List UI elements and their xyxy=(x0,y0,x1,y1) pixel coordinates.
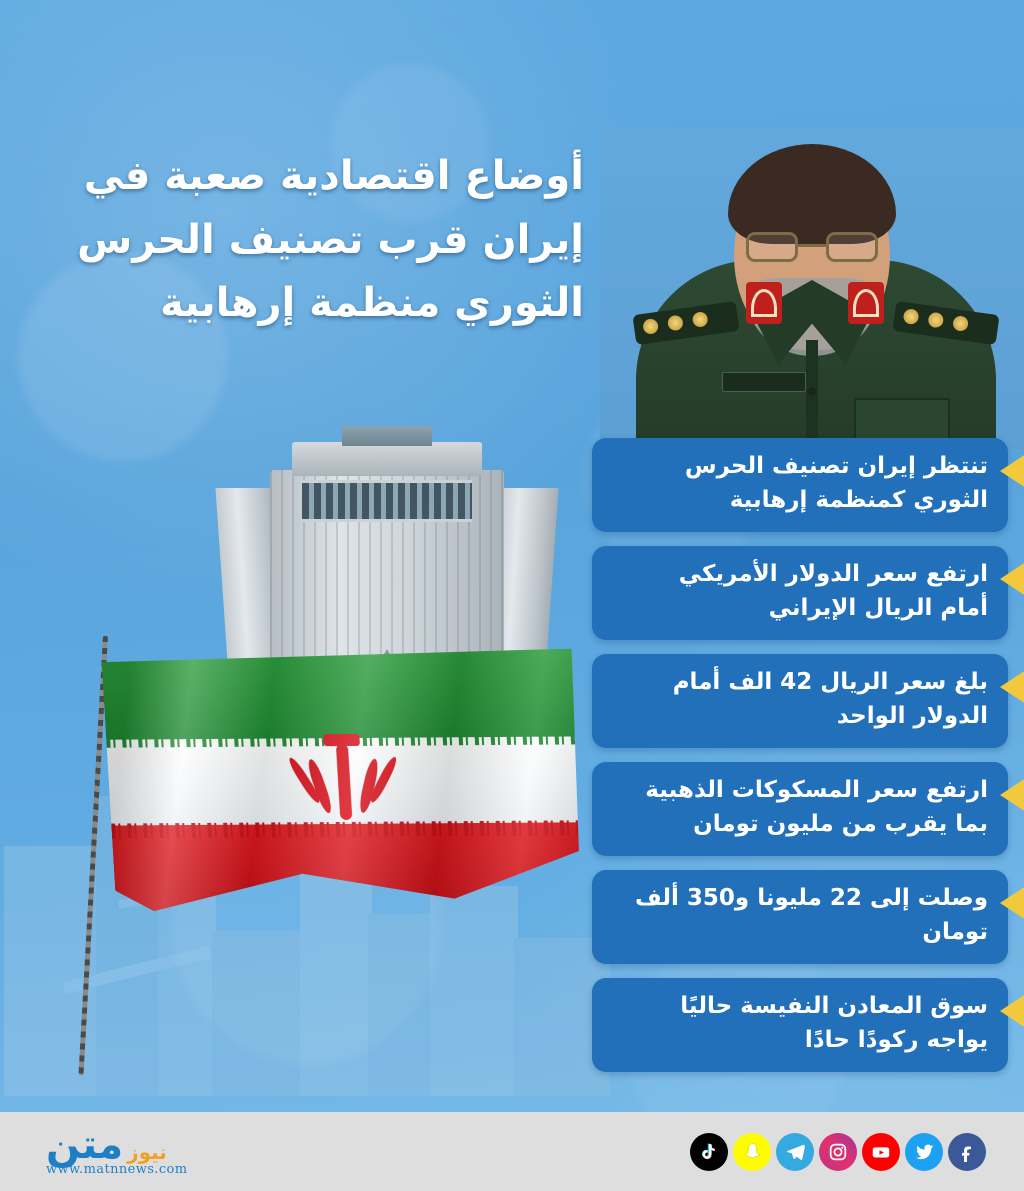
bullet-card[interactable]: تنتظر إيران تصنيف الحرس الثوري كمنظمة إر… xyxy=(592,438,1008,532)
bullet-text: ارتفع سعر الدولار الأمريكي أمام الريال ا… xyxy=(626,558,988,625)
telegram-icon[interactable] xyxy=(776,1133,814,1171)
infographic-poster: أوضاع اقتصادية صعبة في إيران قرب تصنيف ا… xyxy=(0,0,1024,1191)
brand-suffix: نيوز xyxy=(127,1140,167,1164)
facebook-icon[interactable] xyxy=(948,1133,986,1171)
iran-flag xyxy=(75,636,595,946)
page-title: أوضاع اقتصادية صعبة في إيران قرب تصنيف ا… xyxy=(24,146,590,337)
headline-text-2: إيران قرب تصنيف الحرس xyxy=(77,217,584,263)
triangle-marker-icon xyxy=(1000,886,1024,920)
list-item[interactable]: ارتفع سعر الدولار الأمريكي أمام الريال ا… xyxy=(592,546,1008,640)
headline-line-3: الثوري منظمة إرهابية xyxy=(24,273,590,337)
eyeglasses-icon xyxy=(746,232,878,262)
instagram-icon[interactable] xyxy=(819,1133,857,1171)
list-item[interactable]: سوق المعادن النفيسة حاليًا يواجه ركودًا … xyxy=(592,978,1008,1072)
snapchat-icon[interactable] xyxy=(733,1133,771,1171)
triangle-marker-icon xyxy=(1000,778,1024,812)
headline-line-2: إيران قرب تصنيف الحرس xyxy=(24,210,590,274)
flag-cloth xyxy=(101,649,587,912)
bullet-text: تنتظر إيران تصنيف الحرس الثوري كمنظمة إر… xyxy=(626,450,988,517)
bullet-card[interactable]: ارتفع سعر المسكوكات الذهبية بما يقرب من … xyxy=(592,762,1008,856)
list-item[interactable]: وصلت إلى 22 مليونا و350 ألف تومان xyxy=(592,870,1008,964)
triangle-marker-icon xyxy=(1000,562,1024,596)
bullet-card[interactable]: بلغ سعر الريال 42 الف أمام الدولار الواح… xyxy=(592,654,1008,748)
bullet-card[interactable]: ارتفع سعر الدولار الأمريكي أمام الريال ا… xyxy=(592,546,1008,640)
brand-logo[interactable]: نيوز متن www.matnnews.com xyxy=(28,1126,187,1177)
iran-emblem-icon xyxy=(295,734,393,826)
social-links xyxy=(690,1133,996,1171)
bullet-card[interactable]: سوق المعادن النفيسة حاليًا يواجه ركودًا … xyxy=(592,978,1008,1072)
bullet-card[interactable]: وصلت إلى 22 مليونا و350 ألف تومان xyxy=(592,870,1008,964)
bullet-text: وصلت إلى 22 مليونا و350 ألف تومان xyxy=(626,882,988,949)
tiktok-icon[interactable] xyxy=(690,1133,728,1171)
bullet-text: بلغ سعر الريال 42 الف أمام الدولار الواح… xyxy=(626,666,988,733)
list-item[interactable]: بلغ سعر الريال 42 الف أمام الدولار الواح… xyxy=(592,654,1008,748)
bullet-text: سوق المعادن النفيسة حاليًا يواجه ركودًا … xyxy=(626,990,988,1057)
twitter-icon[interactable] xyxy=(905,1133,943,1171)
footer-bar: نيوز متن www.matnnews.com xyxy=(0,1112,1024,1191)
bullet-text: ارتفع سعر المسكوكات الذهبية بما يقرب من … xyxy=(626,774,988,841)
brand-url: www.matnnews.com xyxy=(46,1162,187,1177)
rank-patch-left xyxy=(746,282,782,324)
commander-portrait xyxy=(600,128,1024,450)
youtube-icon[interactable] xyxy=(862,1133,900,1171)
triangle-marker-icon xyxy=(1000,994,1024,1028)
triangle-marker-icon xyxy=(1000,670,1024,704)
headline-text-1: أوضاع اقتصادية صعبة في xyxy=(84,153,584,199)
brand-name: متن xyxy=(46,1126,123,1164)
list-item[interactable]: ارتفع سعر المسكوكات الذهبية بما يقرب من … xyxy=(592,762,1008,856)
name-tag xyxy=(722,372,806,392)
headline-line-1: أوضاع اقتصادية صعبة في xyxy=(24,146,590,210)
rank-patch-right xyxy=(848,282,884,324)
list-item[interactable]: تنتظر إيران تصنيف الحرس الثوري كمنظمة إر… xyxy=(592,438,1008,532)
triangle-marker-icon xyxy=(1000,454,1024,488)
bullet-list: تنتظر إيران تصنيف الحرس الثوري كمنظمة إر… xyxy=(592,438,1008,1086)
headline-text-3: الثوري منظمة إرهابية xyxy=(160,280,584,326)
